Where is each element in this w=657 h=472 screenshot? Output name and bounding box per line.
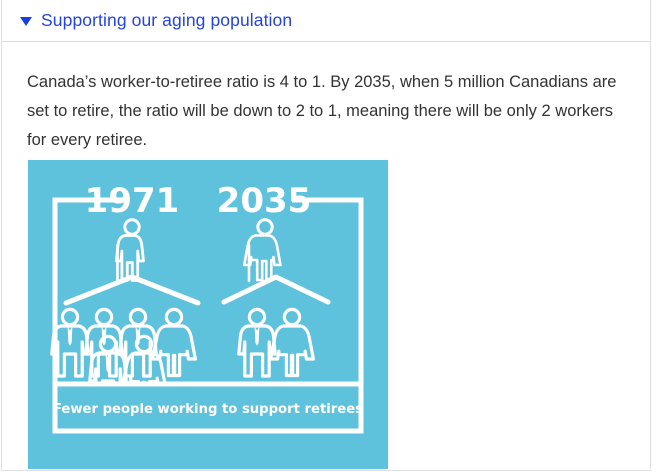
infographic-caption: Fewer people working to support retirees	[53, 402, 363, 417]
body-paragraph: Canada’s worker-to-retiree ratio is 4 to…	[27, 68, 635, 155]
retiree-figure-2035	[244, 220, 280, 281]
triangle-down-icon[interactable]	[20, 17, 32, 26]
year-label-right: 2035	[217, 181, 312, 221]
infographic-worker-to-retiree-ratio: 1971 2035	[28, 160, 388, 469]
accordion-header-supporting-our-aging-population[interactable]: Supporting our aging population	[2, 0, 650, 42]
worker-group-2035	[239, 309, 314, 376]
infographic-svg: 1971 2035	[28, 160, 388, 469]
retiree-figure-1971	[116, 220, 143, 281]
year-label-left: 1971	[85, 181, 180, 221]
worker-icon	[153, 309, 196, 375]
accordion-panel: Supporting our aging population Canada’s…	[1, 0, 651, 471]
chevron-2035	[224, 277, 328, 302]
worker-icon	[271, 309, 314, 375]
worker-icon	[239, 309, 275, 376]
accordion-title: Supporting our aging population	[41, 12, 292, 30]
